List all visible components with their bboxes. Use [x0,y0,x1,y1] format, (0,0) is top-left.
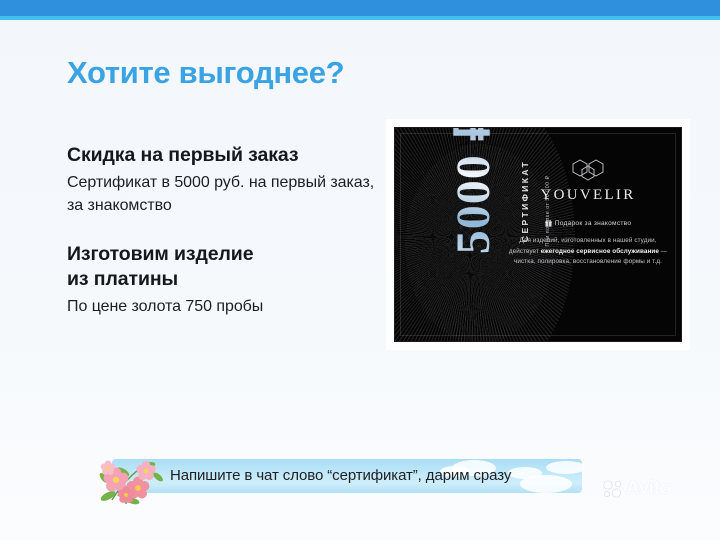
avito-wordmark: Avito [626,478,671,500]
offers-column: Скидка на первый заказ Сертификат в 5000… [67,143,377,318]
pink-roses-icon [96,446,182,508]
offer-block-discount: Скидка на первый заказ Сертификат в 5000… [67,143,377,217]
chat-banner[interactable]: Напишите в чат слово “сертификат”, дарим… [112,459,582,493]
avito-dots-icon [603,480,623,498]
offer-heading-line1: Изготовим изделие [67,242,377,267]
cloud-icon [508,467,542,479]
certificate-image-frame[interactable]: 5000 ₽ СЕРТИФИКАТ При покупке от 50 000 … [386,119,690,350]
paragraph-bold: ежегодное сервисное обслуживание [541,248,659,255]
avito-watermark: Avito [603,478,671,500]
gift-line: Подарок за знакомство [507,220,669,227]
top-blue-bar [0,0,720,16]
interlocking-hexagons-icon [568,158,608,182]
chat-banner-text: Напишите в чат слово “сертификат”, дарим… [170,467,511,484]
brand-name: YOUVELIR [507,187,669,204]
gift-text: Подарок за знакомство [555,220,632,227]
certificate-card: 5000 ₽ СЕРТИФИКАТ При покупке от 50 000 … [394,127,682,342]
cloud-icon [546,461,582,474]
offer-heading: Скидка на первый заказ [67,143,377,168]
page-title: Хотите выгоднее? [67,55,344,91]
offer-block-platinum: Изготовим изделие из платины По цене зол… [67,242,377,318]
certificate-amount: 5000 ₽ [445,127,501,268]
offer-body: По цене золота 750 пробы [67,295,377,318]
gift-icon [545,220,552,227]
certificate-paragraph: Для изделий, изготовленных в нашей студи… [507,236,669,268]
offer-body: Сертификат в 5000 руб. на первый заказ, … [67,171,377,217]
offer-heading-line2: из платины [67,267,377,292]
certificate-info-panel: YOUVELIR Подарок за знакомство Для издел… [507,158,669,268]
